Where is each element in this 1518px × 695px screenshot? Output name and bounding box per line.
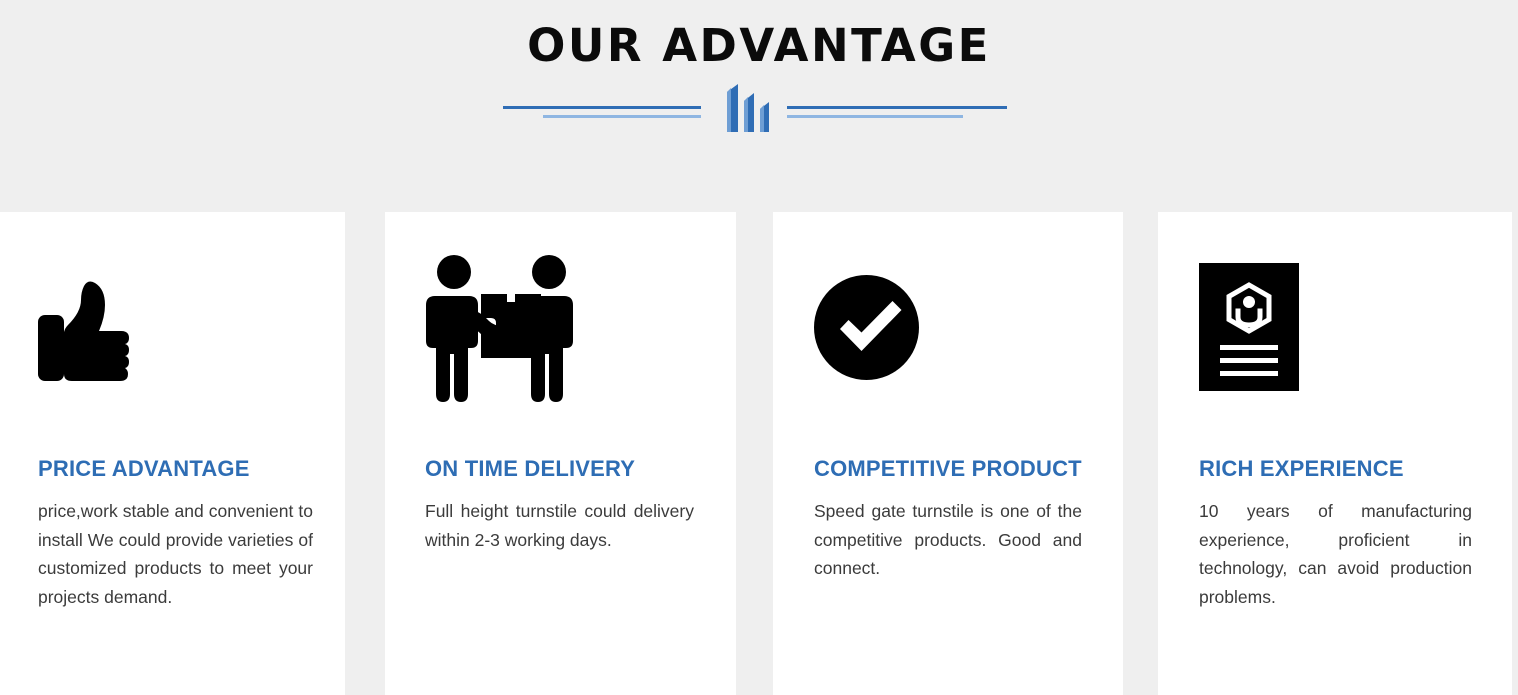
decorative-divider — [503, 84, 1007, 132]
three-bars-divider-icon — [711, 84, 781, 132]
divider-bar-3-highlight — [760, 105, 764, 132]
divider-bar-1-highlight — [727, 88, 731, 132]
page-title: OUR ADVANTAGE — [0, 19, 1518, 73]
divider-line-right-dark — [787, 106, 1007, 109]
advantage-card-list: PRICE ADVANTAGE price,work stable and co… — [0, 212, 1518, 695]
thumbs-up-icon — [38, 252, 138, 402]
card-heading: RICH EXPERIENCE — [1199, 455, 1472, 483]
card-heading: PRICE ADVANTAGE — [38, 455, 313, 483]
delivery-handoff-icon — [425, 252, 575, 402]
certificate-icon — [1199, 252, 1299, 402]
divider-line-left-dark — [503, 106, 701, 109]
divider-line-left-light — [543, 115, 701, 118]
check-circle-icon — [814, 252, 919, 402]
section-header: OUR ADVANTAGE — [0, 0, 1518, 212]
advantage-card-delivery[interactable]: ON TIME DELIVERY Full height turnstile c… — [385, 212, 736, 695]
advantage-section: OUR ADVANTAGE — [0, 0, 1518, 695]
card-body-text: Speed gate turnstile is one of the compe… — [814, 497, 1082, 583]
advantage-card-price[interactable]: PRICE ADVANTAGE price,work stable and co… — [0, 212, 345, 695]
card-body-text: Full height turnstile could delivery wit… — [425, 497, 694, 554]
card-body-text: price,work stable and convenient to inst… — [38, 497, 313, 611]
advantage-card-product[interactable]: COMPETITIVE PRODUCT Speed gate turnstile… — [773, 212, 1123, 695]
card-body-text: 10 years of manufacturing experience, pr… — [1199, 497, 1472, 611]
divider-bar-2-highlight — [744, 97, 748, 132]
card-heading: ON TIME DELIVERY — [425, 455, 694, 483]
card-heading: COMPETITIVE PRODUCT — [814, 455, 1082, 483]
divider-line-right-light — [787, 115, 963, 118]
advantage-card-experience[interactable]: RICH EXPERIENCE 10 years of manufacturin… — [1158, 212, 1512, 695]
